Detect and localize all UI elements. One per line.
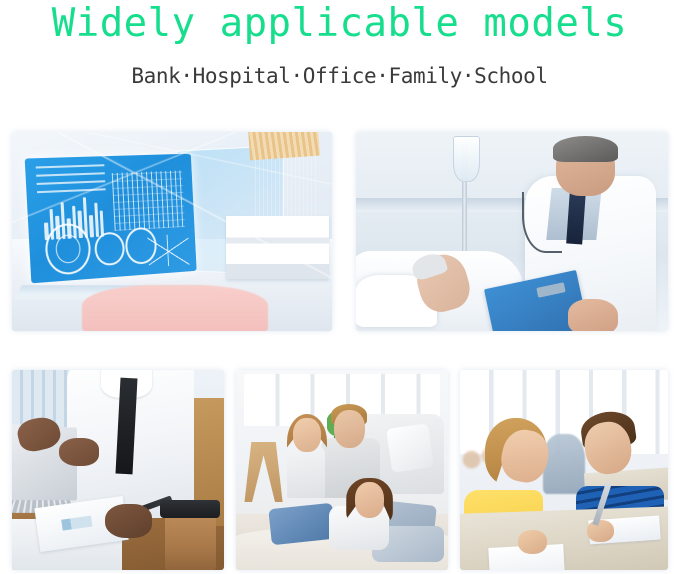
photo-bank[interactable] bbox=[12, 132, 332, 331]
hospital-doctor-hair bbox=[553, 136, 619, 162]
bank-scene bbox=[12, 132, 332, 331]
family-daughter-top bbox=[287, 446, 325, 498]
school-background-student-blue bbox=[543, 434, 585, 494]
office-scene bbox=[12, 370, 224, 570]
hospital-iv-bag bbox=[453, 136, 480, 182]
photo-hospital[interactable] bbox=[356, 132, 668, 331]
photo-family[interactable] bbox=[236, 370, 448, 570]
school-boy-hand bbox=[587, 520, 614, 542]
bank-network-overlay bbox=[12, 132, 332, 331]
office-coffee-lid bbox=[160, 500, 219, 518]
family-mother-face bbox=[355, 482, 385, 518]
family-daughter-face bbox=[293, 418, 321, 452]
photo-office[interactable] bbox=[12, 370, 224, 570]
banner-header: Widely applicable models Bank·Hospital·O… bbox=[0, 0, 679, 89]
family-father-face bbox=[334, 410, 366, 448]
photo-school[interactable] bbox=[460, 370, 668, 570]
promo-banner: Widely applicable models Bank·Hospital·O… bbox=[0, 0, 679, 574]
school-scene bbox=[460, 370, 668, 570]
school-girl-hand bbox=[518, 530, 547, 554]
office-hand-pointing bbox=[59, 438, 99, 466]
family-cushion bbox=[386, 423, 434, 472]
page-title: Widely applicable models bbox=[0, 0, 679, 47]
family-daughter-jeans bbox=[268, 503, 335, 545]
hospital-scene bbox=[356, 132, 668, 331]
hospital-doctor-hand bbox=[568, 299, 618, 331]
office-hand-holding-pen bbox=[105, 504, 152, 538]
category-subtitle: Bank·Hospital·Office·Family·School bbox=[0, 47, 679, 89]
family-scene bbox=[236, 370, 448, 570]
